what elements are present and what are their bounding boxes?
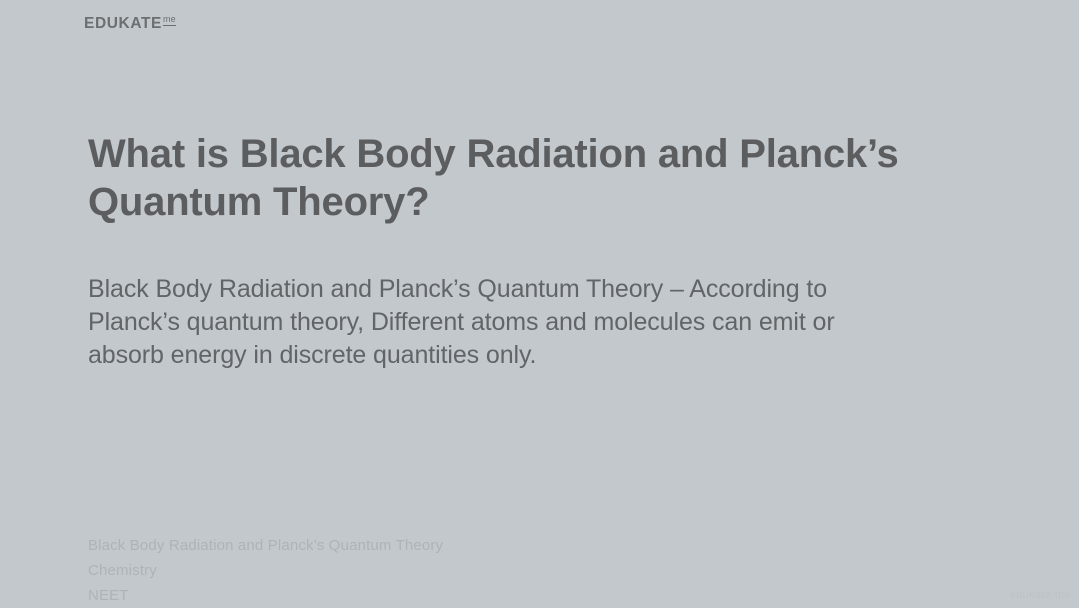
slide-footer: Black Body Radiation and Planck’s Quantu…: [88, 533, 788, 608]
slide-canvas: EDUKATE me What is Black Body Radiation …: [0, 0, 1079, 607]
slide-body-paragraph: Black Body Radiation and Planck’s Quantu…: [88, 273, 968, 372]
footer-topic: Black Body Radiation and Planck’s Quantu…: [88, 533, 788, 558]
footer-subject: Chemistry: [88, 558, 788, 583]
slide-title: What is Black Body Radiation and Planck’…: [88, 130, 988, 226]
slide-body-line-3: absorb energy in discrete quantities onl…: [88, 341, 536, 369]
corner-watermark: edukate.me: [1010, 589, 1071, 601]
brand-logo-superscript: me: [163, 15, 176, 24]
brand-logo-underline-rule: [163, 25, 176, 26]
footer-exam: NEET: [88, 583, 788, 608]
brand-logo[interactable]: EDUKATE me: [84, 16, 176, 32]
brand-logo-wordmark: EDUKATE: [84, 16, 162, 32]
brand-logo-superscript-group: me: [163, 15, 176, 26]
slide-title-line-1: What is Black Body Radiation and Planck’…: [88, 132, 899, 176]
slide-body-line-1: Black Body Radiation and Planck’s Quantu…: [88, 275, 827, 303]
slide-body-line-2: Planck’s quantum theory, Different atoms…: [88, 308, 835, 336]
slide-title-line-2: Quantum Theory?: [88, 180, 429, 224]
